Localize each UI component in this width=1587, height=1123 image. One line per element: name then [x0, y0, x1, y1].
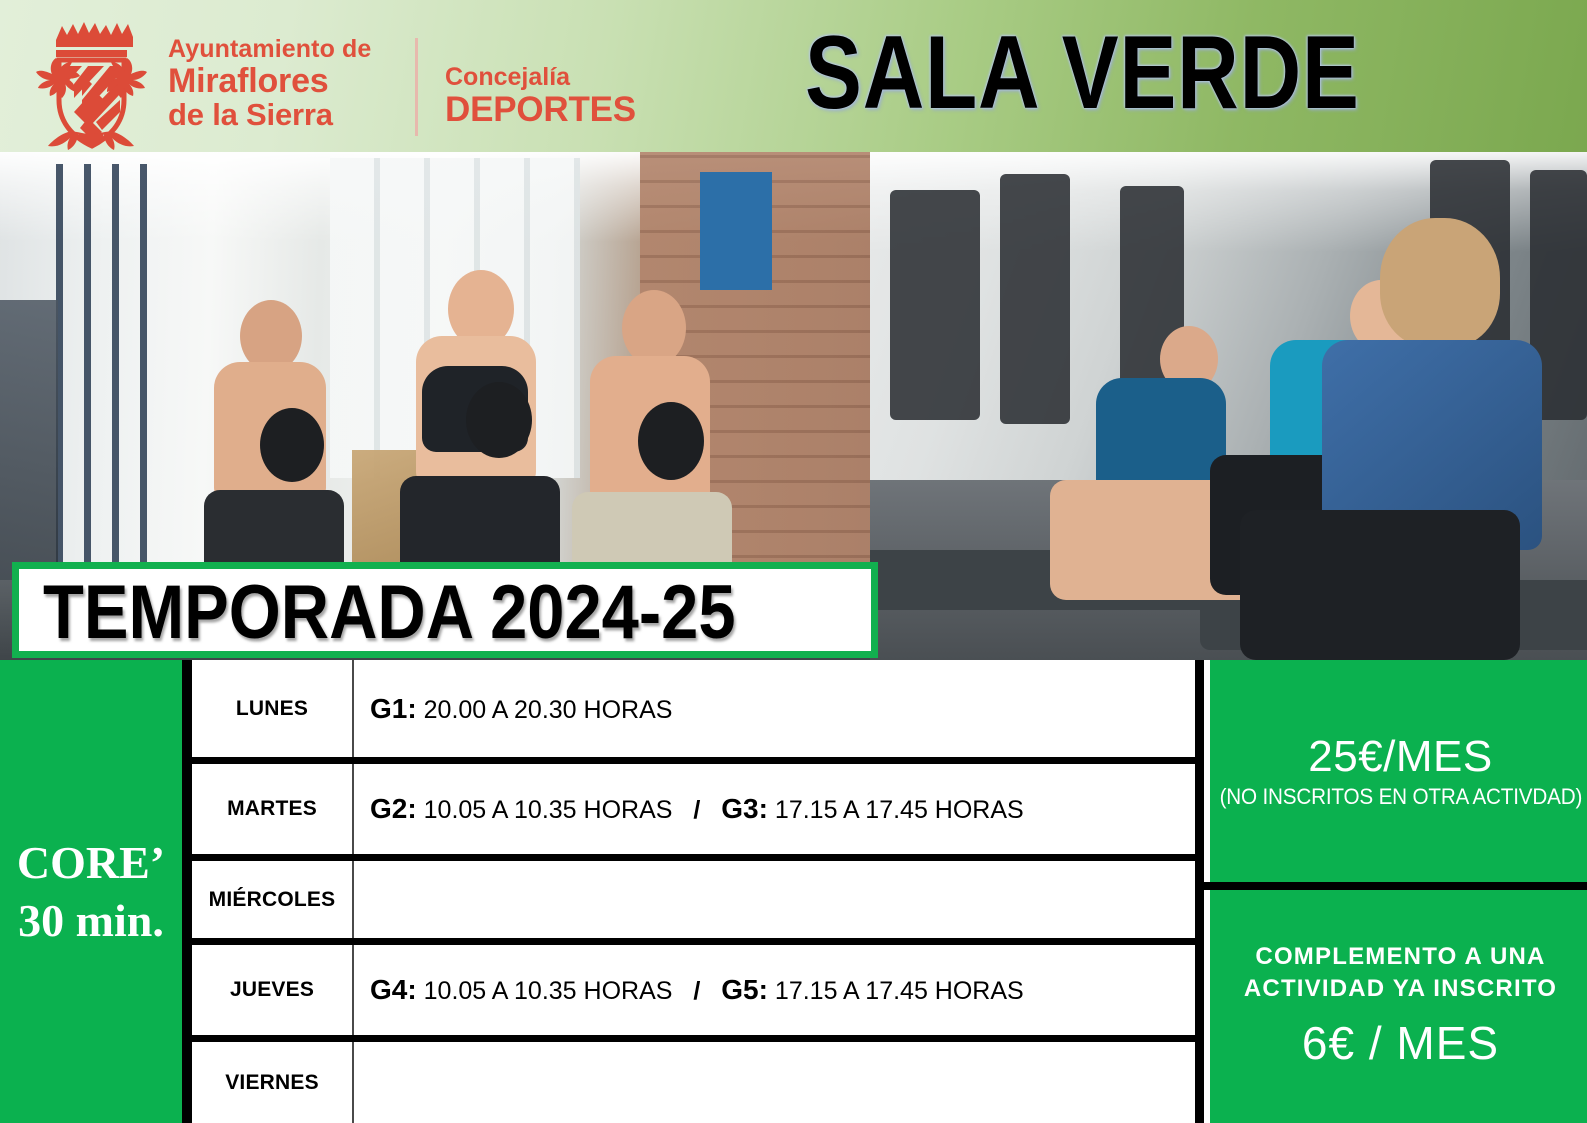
miraflores-coat-of-arms-icon — [32, 14, 150, 152]
pricing-panel: 25€/MES (NO INSCRITOS EN OTRA ACTIVDAD) … — [1204, 660, 1587, 1123]
schedule-table: LUNES G1: 20.00 A 20.30 HORAS MARTES G2:… — [182, 660, 1204, 1123]
group-time: 17.15 A 17.45 HORAS — [775, 977, 1024, 1005]
row-divider — [182, 757, 1204, 764]
barbell-rack — [56, 164, 168, 564]
day-label: VIERNES — [192, 1071, 352, 1095]
athlete-figure — [1270, 210, 1587, 660]
poster-root: Ayuntamiento de Miraflores de la Sierra … — [0, 0, 1587, 1123]
logo-line-ayuntamiento: Ayuntamiento de — [168, 36, 371, 63]
group-code: G2: — [370, 793, 417, 824]
municipality-name: Ayuntamiento de Miraflores de la Sierra — [168, 36, 371, 131]
kettlebell — [466, 382, 532, 458]
group-time: 10.05 A 10.35 HORAS — [424, 977, 673, 1005]
row-divider — [182, 1035, 1204, 1042]
day-label: MARTES — [192, 797, 352, 821]
slot-separator: / — [679, 977, 714, 1006]
activity-duration: 30 min. — [18, 892, 164, 950]
athlete-shorts — [1240, 510, 1520, 660]
activity-name: CORE’ — [17, 834, 165, 892]
athlete-figure — [370, 270, 580, 610]
logo-line-deportes: DEPORTES — [445, 91, 636, 128]
price-box-primary: 25€/MES (NO INSCRITOS EN OTRA ACTIVDAD) — [1210, 660, 1587, 882]
wall-poster — [700, 172, 772, 290]
municipality-logo: Ayuntamiento de Miraflores de la Sierra … — [168, 36, 648, 140]
day-label: MIÉRCOLES — [192, 888, 352, 912]
cardio-machine — [890, 190, 980, 420]
group-code: G3: — [721, 793, 768, 824]
price-secondary-amount: 6€ / MES — [1302, 1013, 1499, 1073]
season-banner: TEMPORADA 2024-25 — [12, 562, 878, 658]
table-row: MARTES G2: 10.05 A 10.35 HORAS / G3: 17.… — [192, 764, 1195, 854]
schedule-section: CORE’ 30 min. LUNES G1: 20.00 A 20.30 HO… — [0, 660, 1587, 1123]
slot-cell: G2: 10.05 A 10.35 HORAS / G3: 17.15 A 17… — [352, 793, 1024, 825]
table-left-border — [182, 660, 192, 1123]
kettlebell — [260, 408, 324, 482]
price-secondary-head-1: COMPLEMENTO A UNA — [1255, 941, 1545, 973]
logo-divider — [415, 38, 418, 136]
department-name: Concejalía DEPORTES — [445, 64, 636, 128]
group-code: G1: — [370, 693, 417, 724]
group-time: 20.00 A 20.30 HORAS — [424, 696, 673, 724]
group-code: G5: — [721, 974, 768, 1005]
price-primary-amount: 25€/MES — [1308, 731, 1492, 783]
table-row: LUNES G1: 20.00 A 20.30 HORAS — [192, 660, 1195, 757]
logo-line-sierra: de la Sierra — [168, 99, 371, 132]
row-divider — [182, 854, 1204, 861]
slot-cell: G4: 10.05 A 10.35 HORAS / G5: 17.15 A 17… — [352, 974, 1024, 1006]
logo-line-miraflores: Miraflores — [168, 63, 371, 99]
table-row: VIERNES — [192, 1042, 1195, 1123]
day-label: LUNES — [192, 697, 352, 721]
table-right-border — [1195, 660, 1204, 1123]
header-band: Ayuntamiento de Miraflores de la Sierra … — [0, 0, 1587, 152]
row-divider — [182, 938, 1204, 945]
table-row: JUEVES G4: 10.05 A 10.35 HORAS / G5: 17.… — [192, 945, 1195, 1035]
athlete-figure — [180, 300, 370, 600]
athlete-head — [1380, 218, 1500, 348]
price-primary-note: (NO INSCRITOS EN OTRA ACTIVDAD) — [1219, 783, 1582, 811]
athlete-head — [622, 290, 686, 366]
day-label: JUEVES — [192, 978, 352, 1002]
price-secondary-head-2: ACTIVIDAD YA INSCRITO — [1244, 973, 1557, 1005]
price-box-secondary: COMPLEMENTO A UNA ACTIVIDAD YA INSCRITO … — [1210, 890, 1587, 1123]
slot-separator: / — [679, 796, 714, 825]
activity-label-panel: CORE’ 30 min. — [0, 660, 182, 1123]
group-time: 10.05 A 10.35 HORAS — [424, 796, 673, 824]
photo-crunch-class — [870, 150, 1587, 660]
slot-cell: G1: 20.00 A 20.30 HORAS — [352, 693, 672, 725]
equipment-shelf — [0, 300, 58, 590]
logo-line-concejalia: Concejalía — [445, 64, 636, 91]
group-time: 17.15 A 17.45 HORAS — [775, 796, 1024, 824]
season-label: TEMPORADA 2024-25 — [43, 573, 736, 653]
kettlebell — [638, 402, 704, 480]
table-row: MIÉRCOLES — [192, 861, 1195, 938]
price-box-divider — [1204, 882, 1587, 890]
page-title: SALA VERDE — [805, 14, 1379, 132]
group-code: G4: — [370, 974, 417, 1005]
